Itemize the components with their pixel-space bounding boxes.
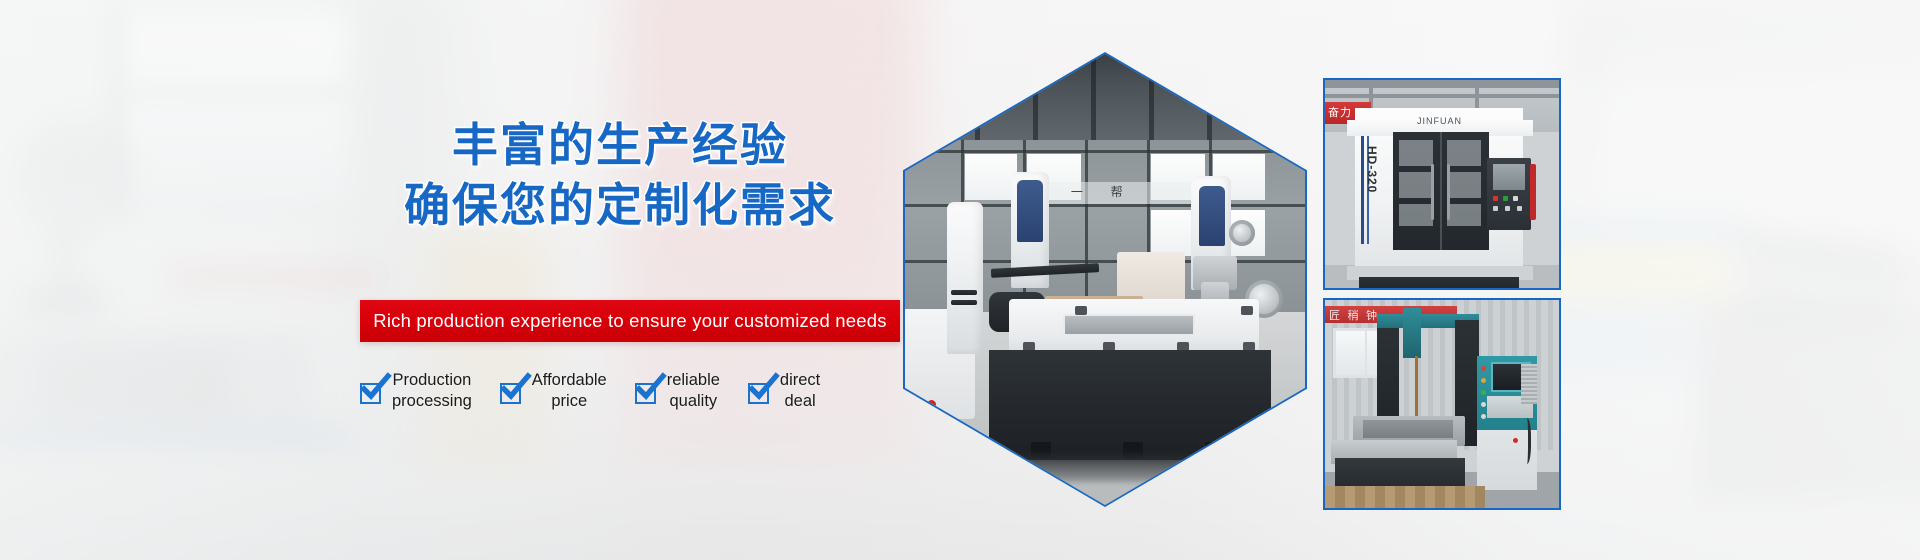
edm-tank-interior xyxy=(1363,420,1453,438)
headline-line-2: 确保您的定制化需求 xyxy=(380,176,860,234)
feature-list: Production processing Affordable price r… xyxy=(360,370,820,412)
headline-line-1: 丰富的生产经验 xyxy=(380,116,860,174)
edm-cable xyxy=(1521,418,1531,464)
checkbox-checked-icon xyxy=(500,383,521,404)
thumbnail-photo-hd320: 奋力 HD-320 JINFUAN xyxy=(1323,78,1561,290)
hd320-screen xyxy=(1493,164,1525,190)
checkbox-checked-icon xyxy=(635,383,656,404)
feature-item: direct deal xyxy=(748,370,820,412)
tagline-ribbon: Rich production experience to ensure you… xyxy=(360,300,900,342)
edm-wall-banner-text: 匠 稍 钟 xyxy=(1329,307,1379,323)
hd320-base xyxy=(1359,277,1519,290)
machine-bed-window xyxy=(1063,314,1195,336)
feature-label: Affordable price xyxy=(532,370,607,412)
feature-item: Affordable price xyxy=(500,370,607,412)
hd320-wall-banner-text: 奋力 xyxy=(1328,104,1352,120)
edm-cutting-head xyxy=(1403,308,1421,358)
feature-item: Production processing xyxy=(360,370,472,412)
hd320-red-edge xyxy=(1530,164,1536,220)
feature-label: Production processing xyxy=(392,370,472,412)
edm-vent xyxy=(1521,364,1537,404)
thumbnail-photo-edm: 匠 稍 钟 xyxy=(1323,298,1561,510)
hd320-model-label: HD-320 xyxy=(1361,146,1379,216)
feature-label: direct deal xyxy=(780,370,820,412)
edm-emergency-stop xyxy=(1511,436,1520,445)
promo-banner: 丰富的生产经验 确保您的定制化需求 Rich production experi… xyxy=(0,0,1920,560)
machine-column-left xyxy=(947,202,983,354)
checkbox-checked-icon xyxy=(360,383,381,404)
edm-pallet xyxy=(1325,486,1485,510)
wall-sign-text: 定 一 帮 xyxy=(1031,183,1201,200)
checkbox-checked-icon xyxy=(748,383,769,404)
hd320-brand-label: JINFUAN xyxy=(1417,116,1462,126)
tagline-text: Rich production experience to ensure you… xyxy=(373,310,886,332)
headline: 丰富的生产经验 确保您的定制化需求 xyxy=(380,116,860,234)
feature-item: reliable quality xyxy=(635,370,720,412)
feature-label: reliable quality xyxy=(667,370,720,412)
